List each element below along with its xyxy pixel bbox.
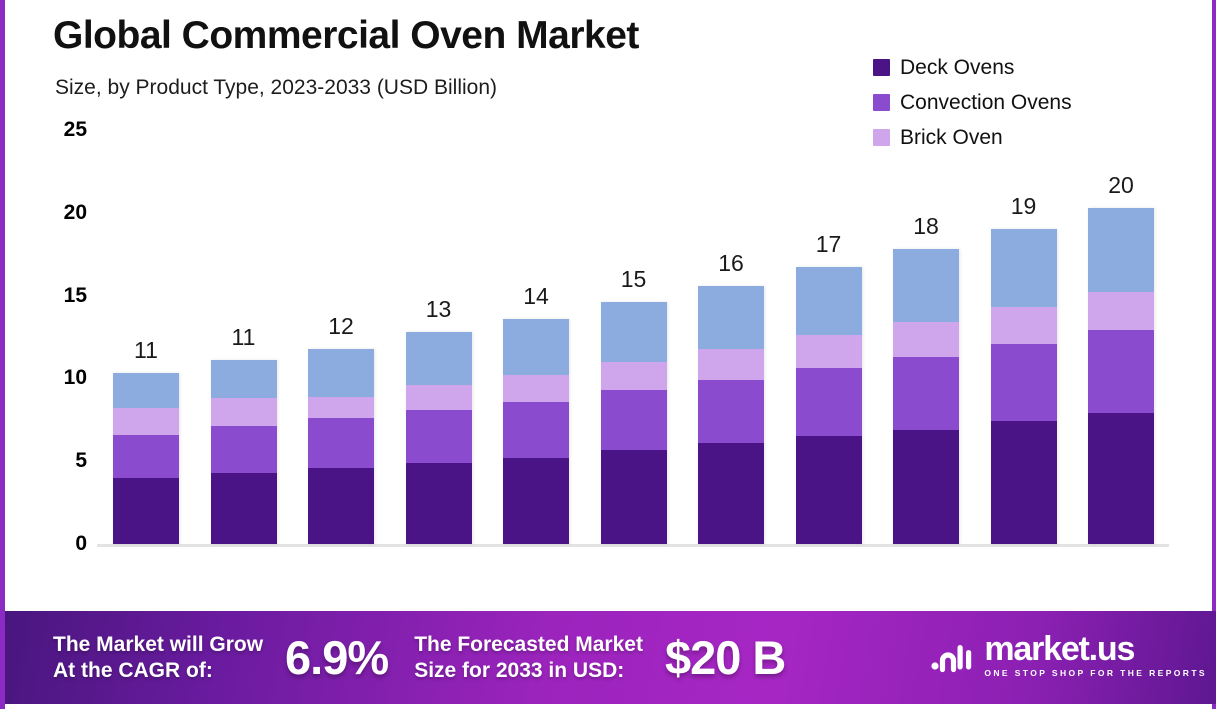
cagr-label-line1: The Market will Grow bbox=[53, 632, 263, 658]
forecast-label-line1: The Forecasted Market bbox=[414, 632, 643, 658]
market-us-logo[interactable]: market.us ONE STOP SHOP FOR THE REPORTS bbox=[931, 633, 1207, 678]
bar-group[interactable] bbox=[503, 319, 569, 544]
y-axis-tick-label: 15 bbox=[64, 284, 87, 308]
bar-segment[interactable] bbox=[796, 335, 862, 368]
bar-segment[interactable] bbox=[211, 398, 277, 426]
bar-segment[interactable] bbox=[796, 368, 862, 436]
bar-segment[interactable] bbox=[893, 322, 959, 357]
cagr-value: 6.9% bbox=[285, 630, 388, 685]
x-axis-baseline bbox=[97, 544, 1169, 547]
bar-group[interactable] bbox=[893, 249, 959, 544]
bar-group[interactable] bbox=[113, 373, 179, 544]
bar-segment[interactable] bbox=[991, 307, 1057, 343]
infographic-page: Global Commercial Oven Market Size, by P… bbox=[0, 0, 1216, 709]
bar-group[interactable] bbox=[601, 302, 667, 544]
market-us-logo-mark-icon bbox=[931, 636, 977, 676]
bar-group[interactable] bbox=[308, 349, 374, 544]
bar-segment[interactable] bbox=[698, 286, 764, 349]
bar-segment[interactable] bbox=[698, 380, 764, 443]
bar-segment[interactable] bbox=[601, 450, 667, 544]
bar-segment[interactable] bbox=[113, 478, 179, 544]
bar-segment[interactable] bbox=[1088, 330, 1154, 413]
bar-total-label: 17 bbox=[796, 231, 862, 258]
bar-segment[interactable] bbox=[698, 443, 764, 544]
bar-segment[interactable] bbox=[113, 435, 179, 478]
bar-segment[interactable] bbox=[1088, 292, 1154, 330]
stacked-bar[interactable] bbox=[601, 302, 667, 544]
bar-total-label: 20 bbox=[1088, 172, 1154, 199]
bar-group[interactable] bbox=[991, 229, 1057, 544]
bar-segment[interactable] bbox=[503, 319, 569, 375]
stacked-bar[interactable] bbox=[211, 360, 277, 544]
chart-plot-area: 0510152025 11202311202412202513202614202… bbox=[5, 0, 1216, 600]
bar-segment[interactable] bbox=[308, 349, 374, 397]
y-axis-tick-label: 0 bbox=[75, 532, 87, 556]
bar-series-container: 1120231120241220251320261420271520281620… bbox=[97, 120, 1169, 544]
bar-segment[interactable] bbox=[406, 463, 472, 544]
bar-total-label: 11 bbox=[211, 324, 277, 351]
bar-segment[interactable] bbox=[406, 332, 472, 385]
bar-segment[interactable] bbox=[503, 458, 569, 544]
forecast-label: The Forecasted Market Size for 2033 in U… bbox=[414, 632, 643, 683]
bar-segment[interactable] bbox=[601, 302, 667, 362]
bar-segment[interactable] bbox=[796, 436, 862, 544]
bar-segment[interactable] bbox=[991, 421, 1057, 544]
bar-segment[interactable] bbox=[796, 267, 862, 335]
bar-total-label: 18 bbox=[893, 213, 959, 240]
bar-segment[interactable] bbox=[893, 430, 959, 544]
bar-segment[interactable] bbox=[308, 468, 374, 544]
stacked-bar[interactable] bbox=[893, 249, 959, 544]
y-axis-tick-label: 5 bbox=[75, 449, 87, 473]
bar-group[interactable] bbox=[796, 267, 862, 544]
logo-wordmark: market.us ONE STOP SHOP FOR THE REPORTS bbox=[984, 633, 1207, 678]
y-axis-tick-label: 25 bbox=[64, 118, 87, 142]
footer-banner: The Market will Grow At the CAGR of: 6.9… bbox=[5, 611, 1216, 704]
cagr-label: The Market will Grow At the CAGR of: bbox=[53, 632, 263, 683]
bar-segment[interactable] bbox=[211, 426, 277, 472]
y-axis-tick-label: 20 bbox=[64, 201, 87, 225]
bar-segment[interactable] bbox=[113, 408, 179, 434]
bar-segment[interactable] bbox=[601, 390, 667, 450]
bar-segment[interactable] bbox=[991, 229, 1057, 307]
bar-segment[interactable] bbox=[503, 375, 569, 401]
bar-segment[interactable] bbox=[601, 362, 667, 390]
forecast-value: $20 B bbox=[665, 630, 785, 685]
bar-segment[interactable] bbox=[893, 249, 959, 322]
bar-segment[interactable] bbox=[991, 344, 1057, 422]
bar-segment[interactable] bbox=[308, 418, 374, 468]
stacked-bar[interactable] bbox=[796, 267, 862, 544]
bar-total-label: 12 bbox=[308, 313, 374, 340]
y-axis-tick-label: 10 bbox=[64, 366, 87, 390]
bar-group[interactable] bbox=[211, 360, 277, 544]
stacked-bar[interactable] bbox=[308, 349, 374, 544]
bar-total-label: 16 bbox=[698, 250, 764, 277]
bar-segment[interactable] bbox=[406, 385, 472, 410]
stacked-bar[interactable] bbox=[113, 373, 179, 544]
bar-segment[interactable] bbox=[406, 410, 472, 463]
bar-segment[interactable] bbox=[308, 397, 374, 419]
cagr-label-line2: At the CAGR of: bbox=[53, 658, 263, 684]
bar-segment[interactable] bbox=[893, 357, 959, 430]
stacked-bar[interactable] bbox=[1088, 208, 1154, 544]
stacked-bar[interactable] bbox=[503, 319, 569, 544]
stacked-bar[interactable] bbox=[991, 229, 1057, 544]
bar-total-label: 19 bbox=[991, 193, 1057, 220]
bar-segment[interactable] bbox=[211, 360, 277, 398]
logo-tagline: ONE STOP SHOP FOR THE REPORTS bbox=[984, 668, 1207, 678]
bar-segment[interactable] bbox=[1088, 208, 1154, 292]
bar-segment[interactable] bbox=[113, 373, 179, 408]
logo-name: market.us bbox=[984, 633, 1207, 665]
bar-group[interactable] bbox=[406, 332, 472, 544]
stacked-bar[interactable] bbox=[698, 286, 764, 544]
bar-segment[interactable] bbox=[211, 473, 277, 544]
bar-total-label: 13 bbox=[406, 296, 472, 323]
bar-segment[interactable] bbox=[1088, 413, 1154, 544]
stacked-bar[interactable] bbox=[406, 332, 472, 544]
bar-group[interactable] bbox=[698, 286, 764, 544]
bar-segment[interactable] bbox=[698, 349, 764, 380]
forecast-label-line2: Size for 2033 in USD: bbox=[414, 658, 643, 684]
bar-segment[interactable] bbox=[503, 402, 569, 458]
bar-total-label: 11 bbox=[113, 337, 179, 364]
y-axis: 0510152025 bbox=[5, 0, 105, 600]
bar-total-label: 14 bbox=[503, 283, 569, 310]
bar-total-label: 15 bbox=[601, 266, 667, 293]
bar-group[interactable] bbox=[1088, 208, 1154, 544]
